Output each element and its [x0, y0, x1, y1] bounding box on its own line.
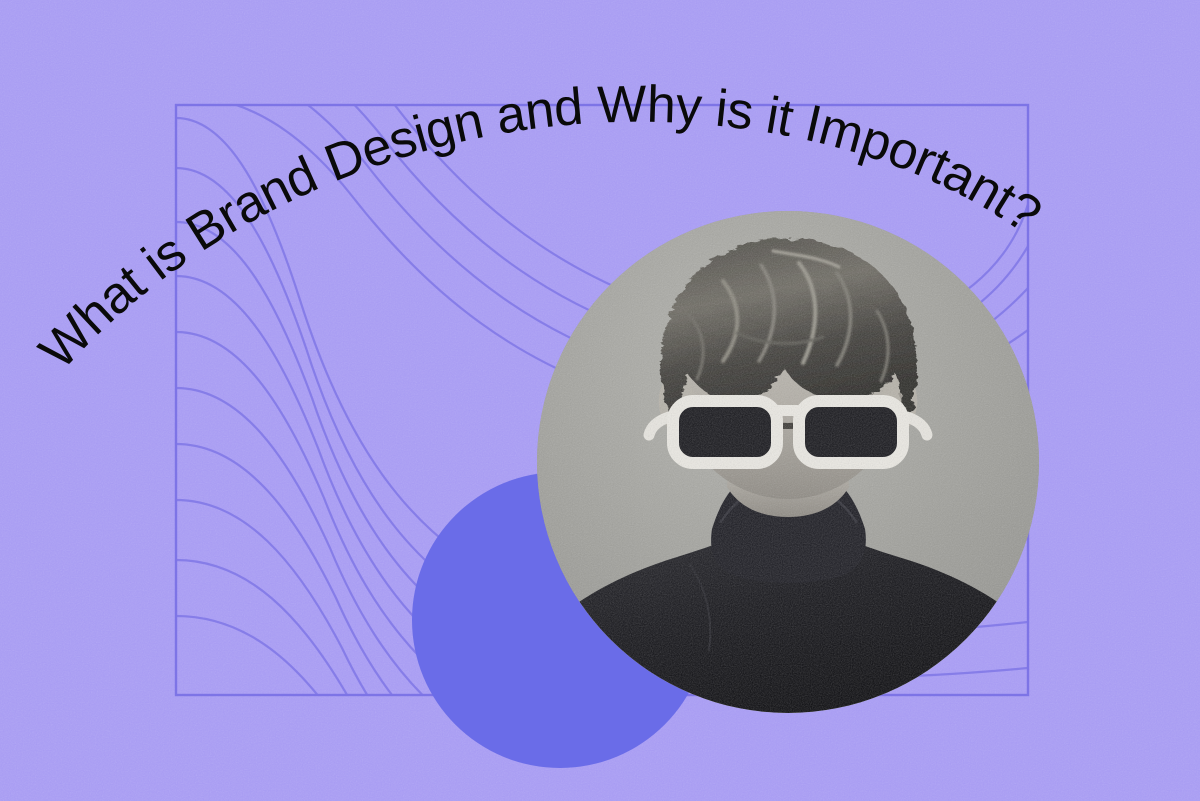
page-title: What is Brand Design and Why is it Impor… — [28, 75, 1051, 380]
headline-layer: What is Brand Design and Why is it Impor… — [0, 0, 1200, 801]
page-title-path: What is Brand Design and Why is it Impor… — [28, 75, 1051, 380]
article-cover-poster: What is Brand Design and Why is it Impor… — [0, 0, 1200, 801]
